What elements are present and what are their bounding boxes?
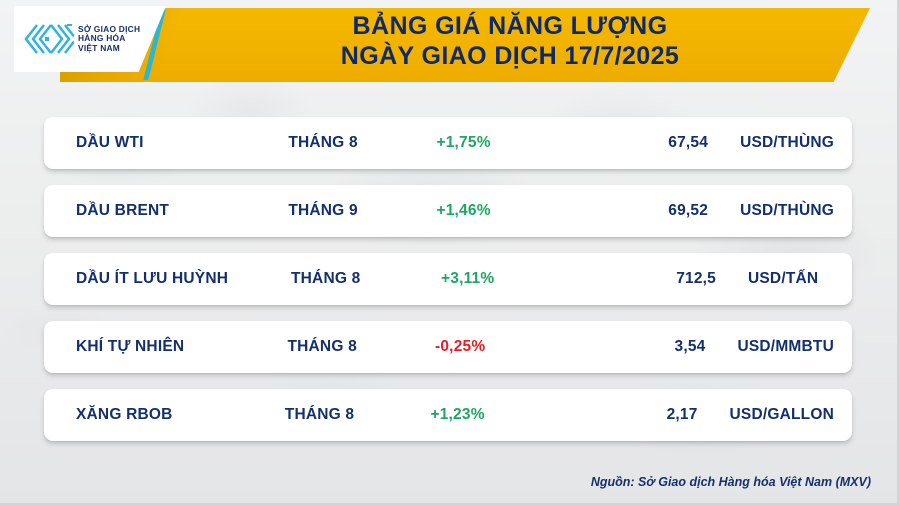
table-row: XĂNG RBOB THÁNG 8 +1,23% 2,17 USD/GALLON (44, 389, 852, 441)
price-unit: USD/MMBTU (715, 338, 834, 356)
price-unit: USD/THÙNG (718, 134, 834, 152)
change-percent: -0,25% (435, 338, 583, 356)
contract-month: THÁNG 8 (285, 406, 431, 424)
change-percent: +3,11% (441, 270, 591, 288)
source-attribution: Nguồn: Sở Giao dịch Hàng hóa Việt Nam (M… (591, 475, 871, 489)
logo-line-3: VIỆT NAM (78, 44, 140, 53)
mxv-chevron-logo-icon (22, 20, 74, 58)
contract-month: THÁNG 8 (287, 338, 435, 356)
table-row: DẦU ÍT LƯU HUỲNH THÁNG 8 +3,11% 712,5 US… (44, 253, 852, 305)
price-value: 3,54 (583, 338, 716, 356)
table-row: DẦU BRENT THÁNG 9 +1,46% 69,52 USD/THÙNG (44, 185, 852, 237)
table-row: DẦU WTI THÁNG 8 +1,75% 67,54 USD/THÙNG (44, 117, 852, 169)
contract-month: THÁNG 8 (288, 134, 436, 152)
price-unit: USD/GALLON (708, 406, 834, 424)
commodity-name: DẦU WTI (76, 134, 288, 152)
change-percent: +1,75% (436, 134, 584, 152)
contract-month: THÁNG 9 (288, 202, 436, 220)
price-value: 69,52 (585, 202, 718, 220)
page-title: BẢNG GIÁ NĂNG LƯỢNG NGÀY GIAO DỊCH 17/7/… (200, 12, 820, 71)
price-unit: USD/TẤN (726, 270, 834, 288)
title-line-1: BẢNG GIÁ NĂNG LƯỢNG (200, 12, 820, 42)
logo-wordmark: SỞ GIAO DỊCH HÀNG HÓA VIỆT NAM (78, 25, 140, 53)
commodity-name: DẦU BRENT (76, 202, 288, 220)
commodity-name: KHÍ TỰ NHIÊN (76, 338, 287, 356)
contract-month: THÁNG 8 (291, 270, 441, 288)
title-line-2: NGÀY GIAO DỊCH 17/7/2025 (200, 42, 820, 72)
change-percent: +1,46% (436, 202, 584, 220)
energy-price-board: SỞ GIAO DỊCH HÀNG HÓA VIỆT NAM BẢNG GIÁ … (0, 0, 900, 506)
header-banner: SỞ GIAO DỊCH HÀNG HÓA VIỆT NAM BẢNG GIÁ … (0, 0, 900, 92)
price-value: 2,17 (576, 406, 707, 424)
price-unit: USD/THÙNG (718, 202, 834, 220)
table-row: KHÍ TỰ NHIÊN THÁNG 8 -0,25% 3,54 USD/MMB… (44, 321, 852, 373)
price-value: 67,54 (585, 134, 718, 152)
commodity-name: DẦU ÍT LƯU HUỲNH (76, 270, 291, 288)
commodity-name: XĂNG RBOB (76, 406, 285, 424)
change-percent: +1,23% (430, 406, 576, 424)
price-table: DẦU WTI THÁNG 8 +1,75% 67,54 USD/THÙNG D… (44, 117, 852, 441)
price-value: 712,5 (591, 270, 726, 288)
